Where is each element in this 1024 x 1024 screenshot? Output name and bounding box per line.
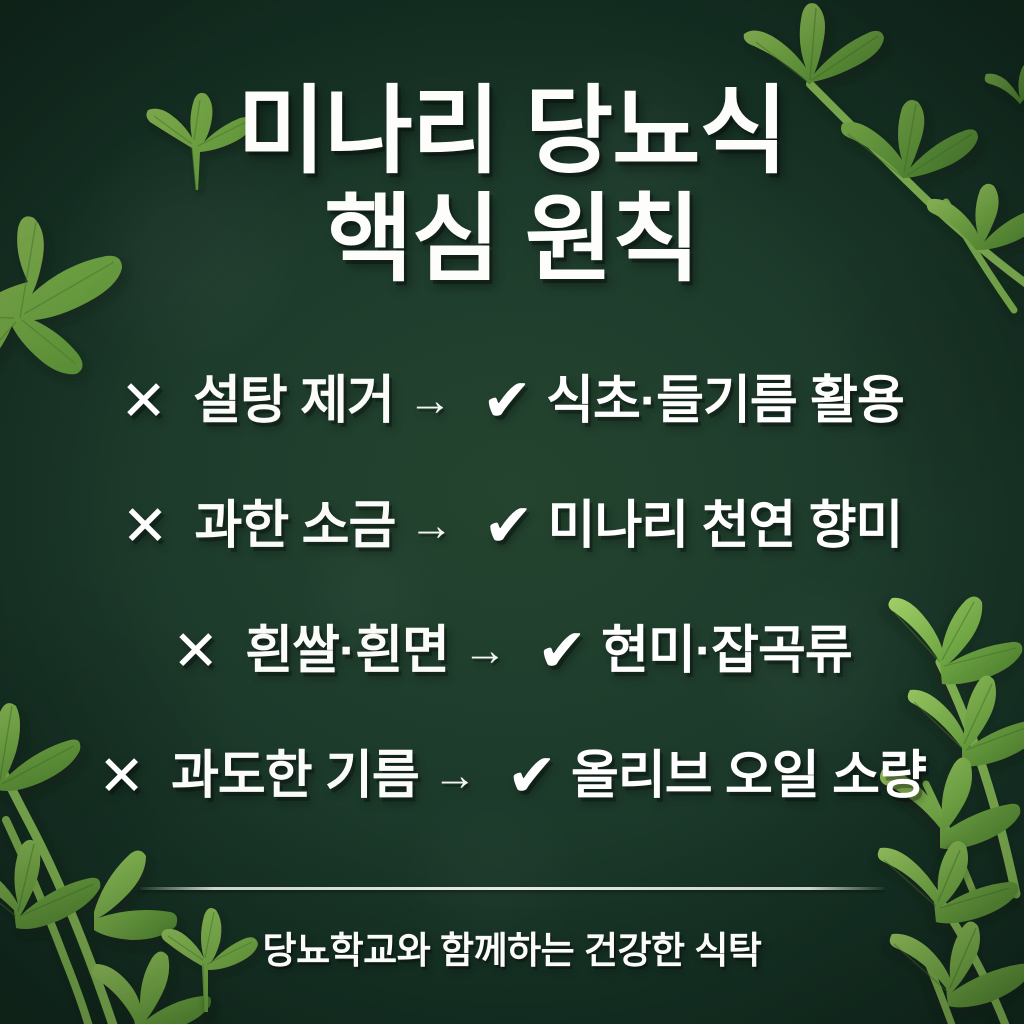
divider <box>140 887 884 890</box>
x-icon: ✕ <box>122 498 169 554</box>
poster-card: 미나리 당뇨식 핵심 원칙 ✕ 설탕 제거 → ✔ 식초·들기름 활용 ✕ 과한… <box>0 0 1024 1024</box>
rules-list: ✕ 설탕 제거 → ✔ 식초·들기름 활용 ✕ 과한 소금 → ✔ 미나리 천연… <box>0 338 1024 838</box>
check-icon: ✔ <box>482 371 532 431</box>
rule-avoid-label: 흰쌀·흰면 <box>245 625 449 677</box>
rule-row-4: ✕ 과도한 기름 → ✔ 올리브 오일 소량 <box>0 713 1024 838</box>
arrow-right-icon: → <box>433 754 477 798</box>
rule-avoid-label: 과한 소금 <box>195 500 396 552</box>
rule-avoid-label: 설탕 제거 <box>193 375 394 427</box>
title-line-1: 미나리 당뇨식 <box>0 78 1024 186</box>
title-line-2: 핵심 원칙 <box>0 186 1024 294</box>
arrow-right-icon: → <box>463 629 507 673</box>
check-icon: ✔ <box>537 621 587 681</box>
rule-prefer-label: 올리브 오일 소량 <box>571 750 926 802</box>
rule-prefer-label: 미나리 천연 향미 <box>548 500 903 552</box>
footer-text: 당뇨학교와 함께하는 건강한 식탁 <box>263 930 762 971</box>
x-icon: ✕ <box>120 373 167 429</box>
rule-row-1: ✕ 설탕 제거 → ✔ 식초·들기름 활용 <box>0 338 1024 463</box>
arrow-right-icon: → <box>409 504 453 548</box>
page-title: 미나리 당뇨식 핵심 원칙 <box>0 78 1024 293</box>
rule-avoid-label: 과도한 기름 <box>171 750 419 802</box>
check-icon: ✔ <box>483 496 533 556</box>
x-icon: ✕ <box>98 748 145 804</box>
arrow-right-icon: → <box>408 379 452 423</box>
x-icon: ✕ <box>172 623 219 679</box>
rule-prefer-label: 식초·들기름 활용 <box>546 375 904 427</box>
rule-row-2: ✕ 과한 소금 → ✔ 미나리 천연 향미 <box>0 463 1024 588</box>
rule-row-3: ✕ 흰쌀·흰면 → ✔ 현미·잡곡류 <box>0 588 1024 713</box>
check-icon: ✔ <box>507 746 557 806</box>
footer: 당뇨학교와 함께하는 건강한 식탁 <box>0 920 1024 974</box>
rule-prefer-label: 현미·잡곡류 <box>601 625 852 677</box>
